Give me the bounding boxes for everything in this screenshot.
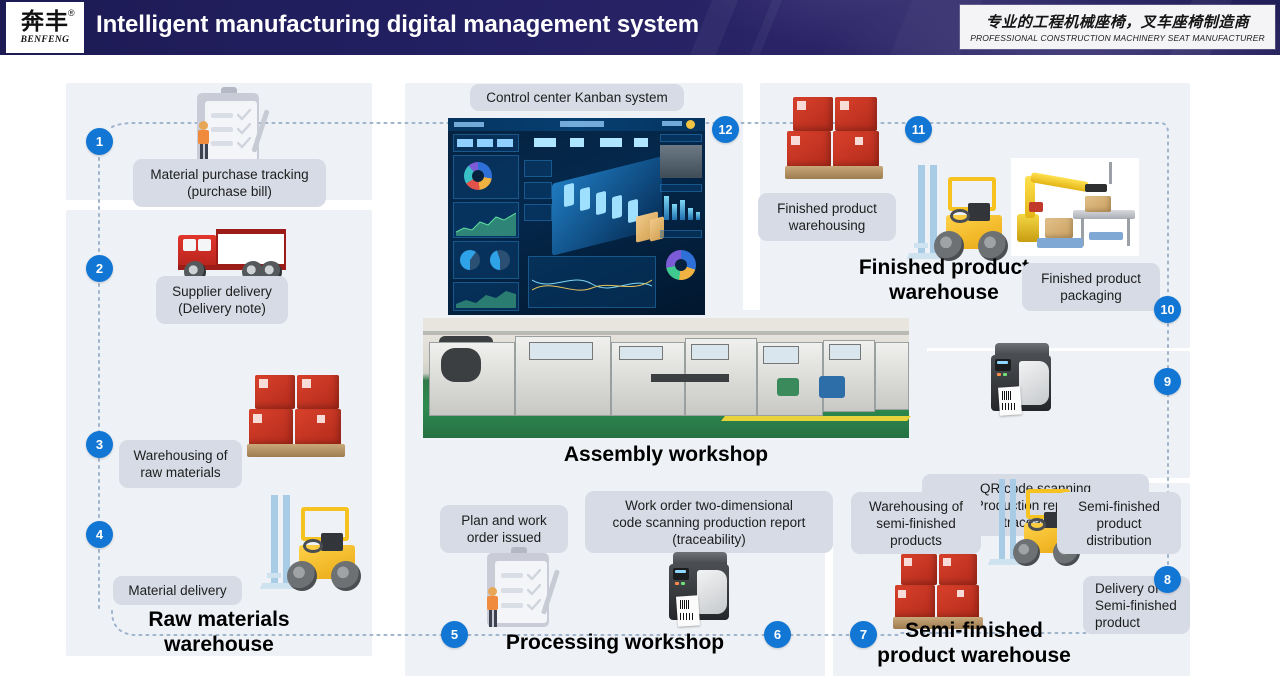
chip-warehousing-semi-finished[interactable]: Warehousing of semi-finished products <box>851 492 981 554</box>
chip-warehousing-raw-materials[interactable]: Warehousing of raw materials <box>119 440 242 488</box>
app-header: 奔丰 ® BENFENG Intelligent manufacturing d… <box>0 0 1280 55</box>
chip-finished-product-warehousing[interactable]: Finished product warehousing <box>758 193 896 241</box>
assembly-workshop-photo <box>423 318 909 438</box>
zone-title-raw-materials-warehouse: Raw materials warehouse <box>66 607 372 657</box>
chip-material-delivery[interactable]: Material delivery <box>113 576 242 605</box>
logo-chinese-name: 奔丰 <box>21 10 69 33</box>
badge-9[interactable]: 9 <box>1154 368 1181 395</box>
label-printer-icon-qr <box>989 343 1053 421</box>
kanban-dashboard-screenshot <box>448 118 705 315</box>
robot-packaging-photo <box>1011 158 1139 256</box>
page-title: Intelligent manufacturing digital manage… <box>96 11 699 39</box>
badge-1[interactable]: 1 <box>86 128 113 155</box>
header-streak <box>740 0 790 55</box>
slogan-chinese: 专业的工程机械座椅，叉车座椅制造商 <box>986 11 1250 32</box>
badge-12[interactable]: 12 <box>712 116 739 143</box>
chip-semi-finished-distribution[interactable]: Semi-finished product distribution <box>1057 492 1181 554</box>
zone-title-semi-finished-product-warehouse: Semi-finished product warehouse <box>833 618 1115 668</box>
badge-11[interactable]: 11 <box>905 116 932 143</box>
badge-6[interactable]: 6 <box>764 621 791 648</box>
chip-work-order-2d-code[interactable]: Work order two-dimensional code scanning… <box>585 491 833 553</box>
pallet-boxes-icon <box>247 373 347 463</box>
logo-english-name: BENFENG <box>21 36 70 46</box>
page-root: 奔丰 ® BENFENG Intelligent manufacturing d… <box>0 0 1280 676</box>
diagram-canvas: Material purchase tracking (purchase bil… <box>0 55 1280 676</box>
label-printer-icon-work-order <box>667 552 731 630</box>
clipboard-icon-work-order <box>473 547 569 631</box>
chip-plan-and-work-order[interactable]: Plan and work order issued <box>440 505 568 553</box>
badge-10[interactable]: 10 <box>1154 296 1181 323</box>
registered-trademark-icon: ® <box>68 9 93 18</box>
chip-finished-product-packaging[interactable]: Finished product packaging <box>1022 263 1160 311</box>
badge-5[interactable]: 5 <box>441 621 468 648</box>
badge-7[interactable]: 7 <box>850 621 877 648</box>
badge-4[interactable]: 4 <box>86 521 113 548</box>
panel-qr-code-scanning <box>927 351 1190 478</box>
company-logo: 奔丰 ® BENFENG <box>6 2 84 53</box>
zone-title-processing-workshop: Processing workshop <box>405 630 825 655</box>
slogan-english: PROFESSIONAL CONSTRUCTION MACHINERY SEAT… <box>970 33 1265 43</box>
clipboard-icon <box>183 87 279 169</box>
company-slogan: 专业的工程机械座椅，叉车座椅制造商 PROFESSIONAL CONSTRUCT… <box>960 5 1275 49</box>
zone-title-assembly-workshop: Assembly workshop <box>423 442 909 467</box>
badge-2[interactable]: 2 <box>86 255 113 282</box>
finished-pallet-boxes-icon <box>785 95 885 185</box>
badge-3[interactable]: 3 <box>86 431 113 458</box>
badge-8[interactable]: 8 <box>1154 566 1181 593</box>
chip-supplier-delivery[interactable]: Supplier delivery (Delivery note) <box>156 276 288 324</box>
forklift-icon <box>255 495 365 617</box>
chip-material-purchase-tracking[interactable]: Material purchase tracking (purchase bil… <box>133 159 326 207</box>
chip-control-center-kanban[interactable]: Control center Kanban system <box>470 84 684 111</box>
